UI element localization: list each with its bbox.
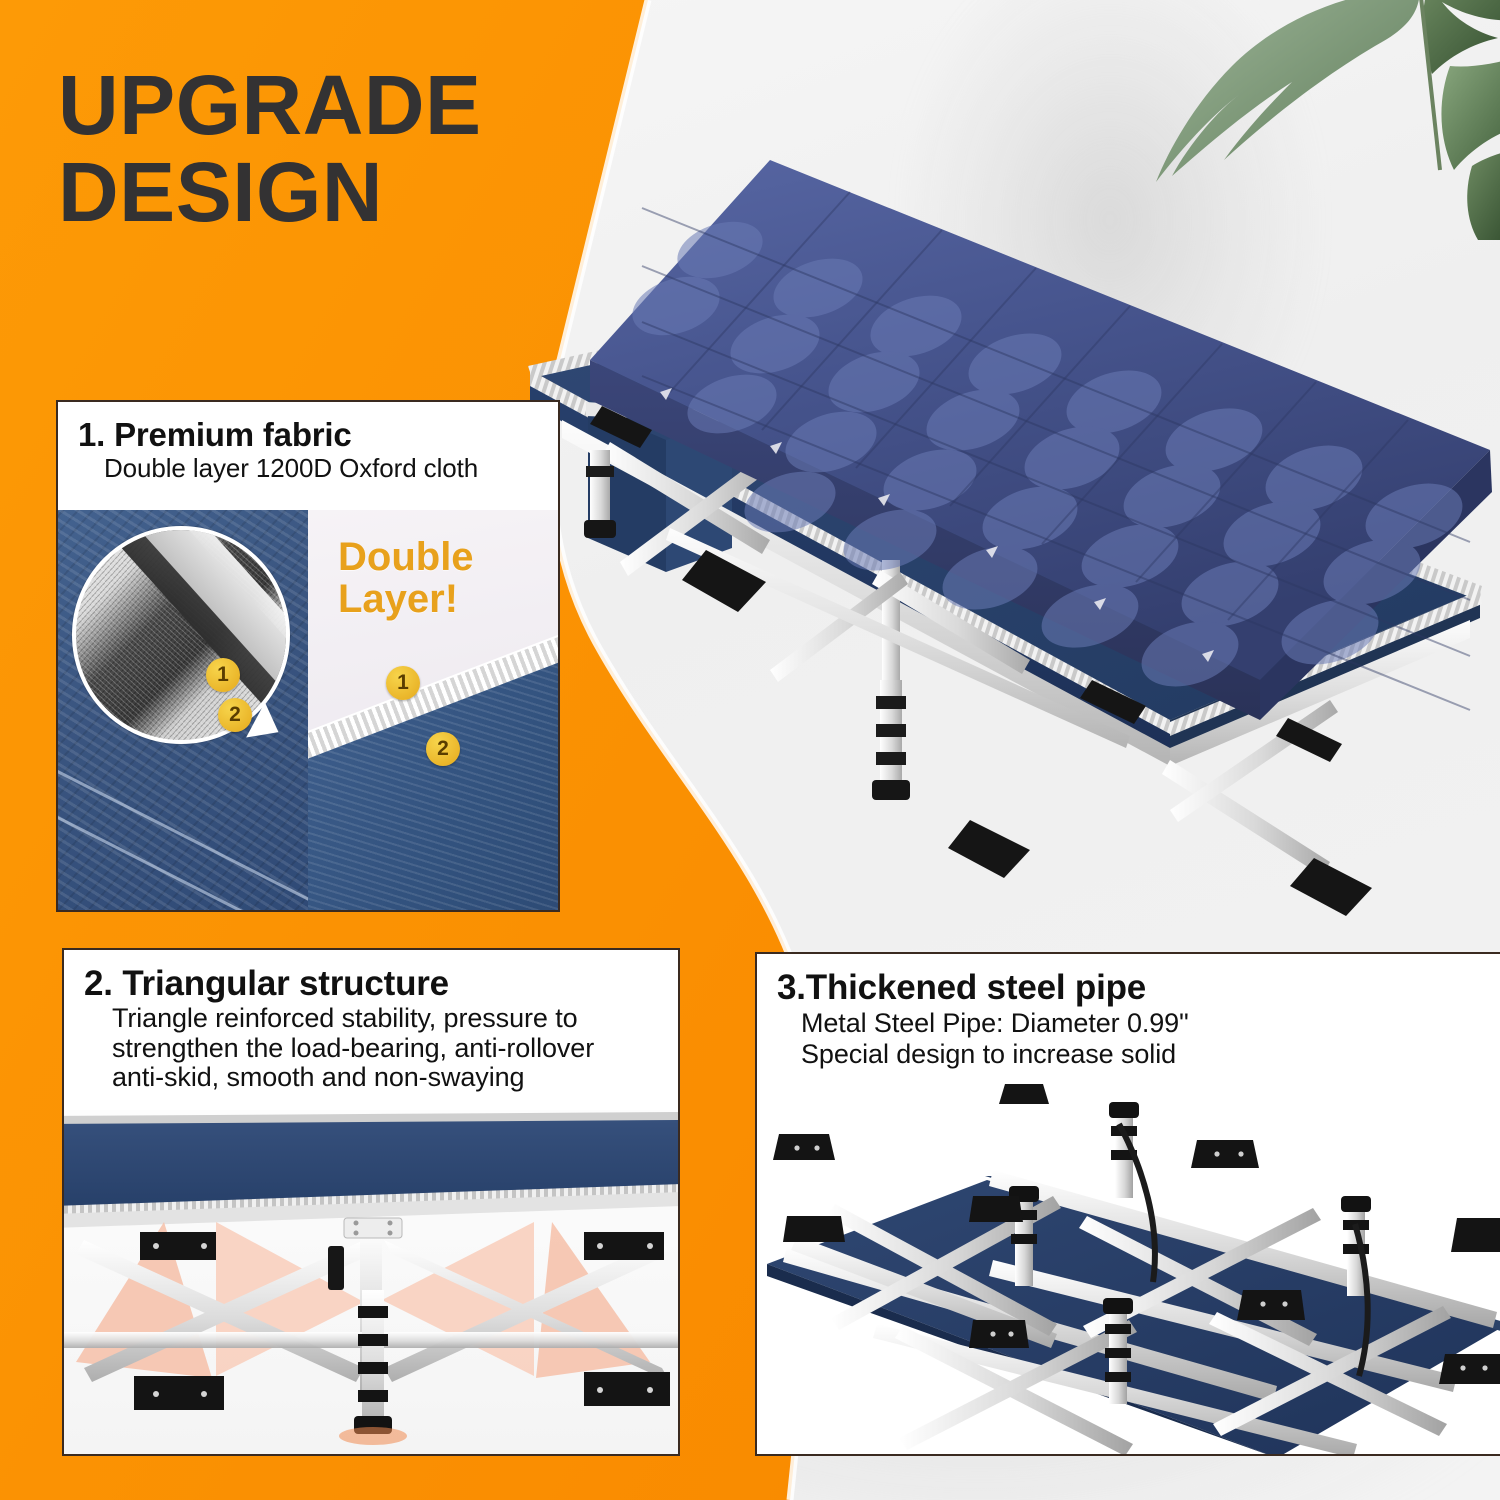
- infographic-canvas: UPGRADE DESIGN 1. Premium fabric Double …: [0, 0, 1500, 1500]
- layer-badge-2-right: 2: [426, 732, 460, 766]
- oxford-cloth-swatch: [308, 637, 558, 912]
- magnifier-callout-bubble: [72, 526, 290, 744]
- panel3-image-area: [757, 1076, 1500, 1456]
- panel1-fabric-photo-right: Double Layer! 1 2: [308, 510, 558, 912]
- panel1-fabric-photo-left: 1 2: [58, 510, 308, 912]
- panel1-subtitle: Double layer 1200D Oxford cloth: [58, 454, 558, 484]
- layer-badge-1: 1: [206, 658, 240, 692]
- hero-product-camping-cot: [470, 120, 1500, 940]
- layer-badge-1-right: 1: [386, 666, 420, 700]
- panel1-title: 1. Premium fabric: [58, 416, 558, 454]
- panel2-text-block: 2. Triangular structure Triangle reinfor…: [64, 950, 678, 1093]
- page-title: UPGRADE DESIGN: [58, 62, 678, 237]
- panel1-image-area: 1 2 Double Layer! 1 2: [58, 510, 558, 912]
- panel2-subtitle: Triangle reinforced stability, pressure …: [64, 1004, 678, 1093]
- layer-badge-2: 2: [218, 698, 252, 732]
- panel2-title: 2. Triangular structure: [64, 964, 678, 1004]
- fabric-seam-line: [58, 806, 308, 912]
- double-layer-callout: Double Layer!: [338, 536, 474, 621]
- feature-panel-thickened-steel-pipe: 3.Thickened steel pipe Metal Steel Pipe:…: [755, 952, 1500, 1456]
- cot-underside-triangles-illustration: [64, 1110, 678, 1456]
- panel3-title: 3.Thickened steel pipe: [757, 968, 1500, 1008]
- feature-panel-premium-fabric: 1. Premium fabric Double layer 1200D Oxf…: [56, 400, 560, 912]
- panel1-text-block: 1. Premium fabric Double layer 1200D Oxf…: [58, 402, 558, 484]
- panel3-text-block: 3.Thickened steel pipe Metal Steel Pipe:…: [757, 954, 1500, 1070]
- panel2-image-area: [64, 1110, 678, 1456]
- panel3-subtitle: Metal Steel Pipe: Diameter 0.99" Special…: [757, 1008, 1500, 1070]
- feature-panel-triangular-structure: 2. Triangular structure Triangle reinfor…: [62, 948, 680, 1456]
- inverted-cot-frame-illustration: [757, 1076, 1500, 1456]
